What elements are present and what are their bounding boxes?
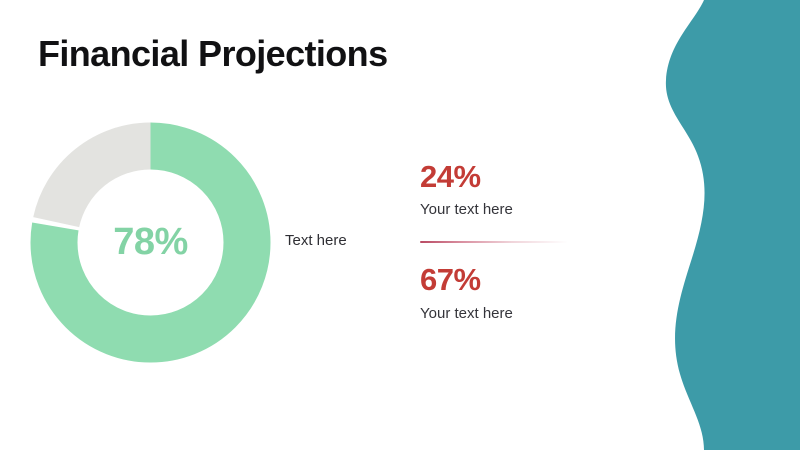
stat-label: Your text here bbox=[420, 305, 620, 323]
donut-caption-label: Text here bbox=[285, 232, 347, 249]
wave-front-shape bbox=[666, 0, 800, 450]
stat-item-2: 67% Your text here bbox=[420, 263, 620, 322]
wave-back-shape bbox=[710, 0, 800, 450]
wave-middle-shape bbox=[692, 0, 800, 450]
stat-value: 67% bbox=[420, 263, 620, 296]
stat-item-1: 24% Your text here bbox=[420, 160, 620, 219]
stat-divider bbox=[420, 241, 568, 243]
stat-label: Your text here bbox=[420, 201, 620, 219]
donut-chart: 78% bbox=[30, 122, 271, 363]
donut-center-value: 78% bbox=[30, 122, 271, 363]
slide-canvas: Financial Projections 78% Text here 24% … bbox=[0, 0, 800, 450]
page-title: Financial Projections bbox=[38, 33, 388, 75]
wave-decoration bbox=[600, 0, 800, 450]
statistics-group: 24% Your text here 67% Your text here bbox=[420, 160, 620, 323]
stat-value: 24% bbox=[420, 160, 620, 193]
